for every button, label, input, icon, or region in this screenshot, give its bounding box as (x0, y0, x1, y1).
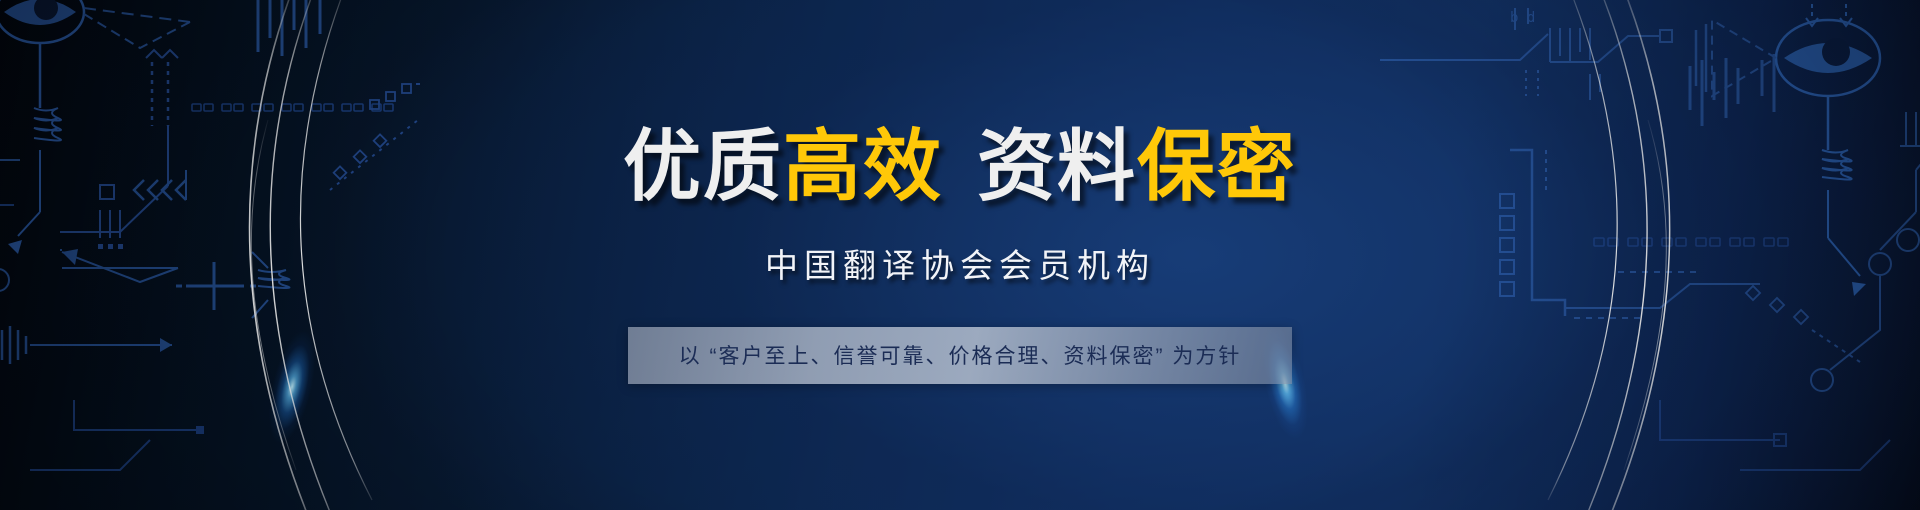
slogan-text: 以 “客户至上、信誉可靠、价格合理、资料保密” 为方针 (679, 340, 1242, 370)
headline-part-3: 资料 (977, 122, 1137, 210)
headline-part-1: 优质 (623, 122, 783, 210)
headline-part-2: 高效 (783, 122, 943, 210)
headline: 优质高效资料保密 (623, 127, 1297, 205)
hero-banner: b d (0, 0, 1920, 510)
headline-part-4: 保密 (1137, 122, 1297, 210)
subtitle: 中国翻译协会会员机构 (765, 239, 1155, 287)
slogan-bar: 以 “客户至上、信誉可靠、价格合理、资料保密” 为方针 (628, 327, 1292, 384)
banner-content: 优质高效资料保密 中国翻译协会会员机构 以 “客户至上、信誉可靠、价格合理、资料… (0, 0, 1920, 510)
